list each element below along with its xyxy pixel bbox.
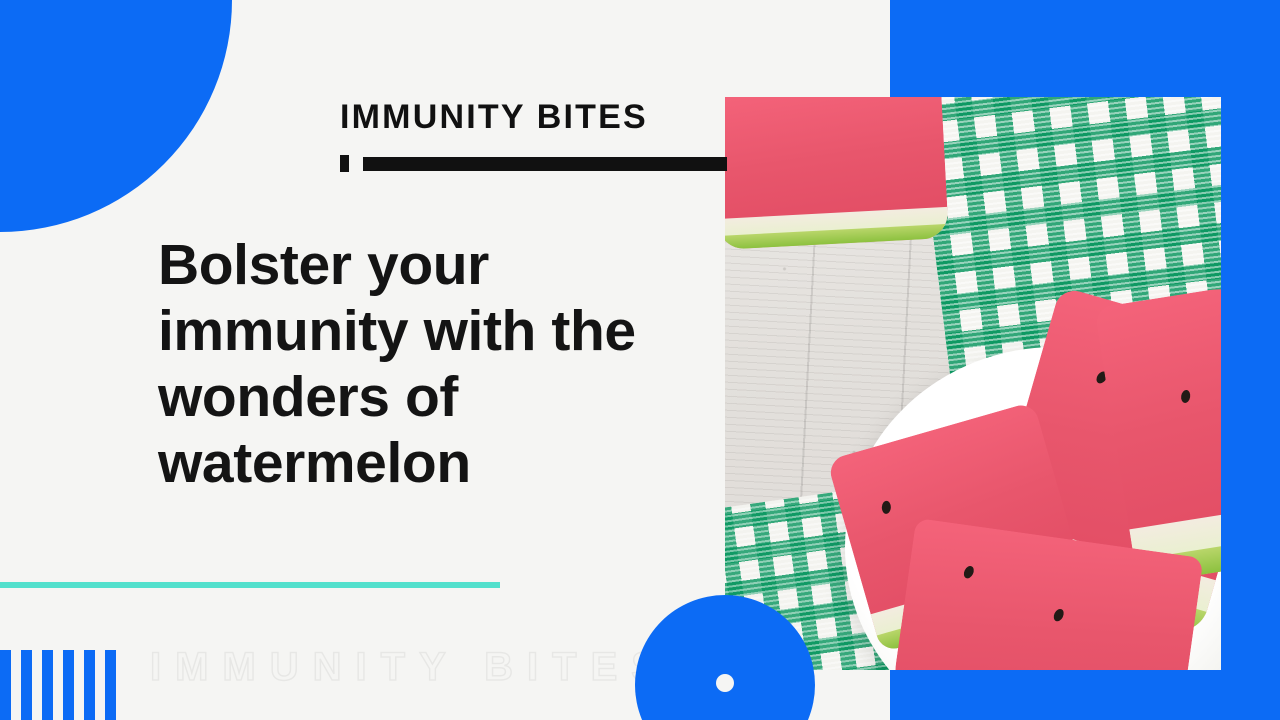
corner-quarter-circle-decoration: [0, 0, 232, 232]
blue-bar: [21, 650, 32, 720]
blue-bar: [63, 650, 74, 720]
rule-bar-decoration: [363, 157, 727, 171]
blue-bar: [0, 650, 11, 720]
blue-bar: [105, 650, 116, 720]
teal-rule-decoration: [0, 582, 500, 588]
circle-center-dot: [716, 674, 734, 692]
photo-composition: [725, 97, 1221, 670]
blue-bar-group-decoration: [0, 650, 116, 720]
blue-bar: [42, 650, 53, 720]
kicker-label: IMMUNITY BITES: [340, 100, 648, 134]
rule-square-decoration: [340, 155, 349, 172]
page-title: Bolster your immunity with the wonders o…: [158, 232, 658, 496]
watermelon-slice-top: [725, 97, 949, 250]
slide-canvas: IMMUNITY BITES Bolster your immunity wit…: [0, 0, 1280, 720]
watermelon-photo: [725, 97, 1221, 670]
watermark-text: IMMUNITY BITES: [150, 645, 672, 690]
blue-bar: [84, 650, 95, 720]
